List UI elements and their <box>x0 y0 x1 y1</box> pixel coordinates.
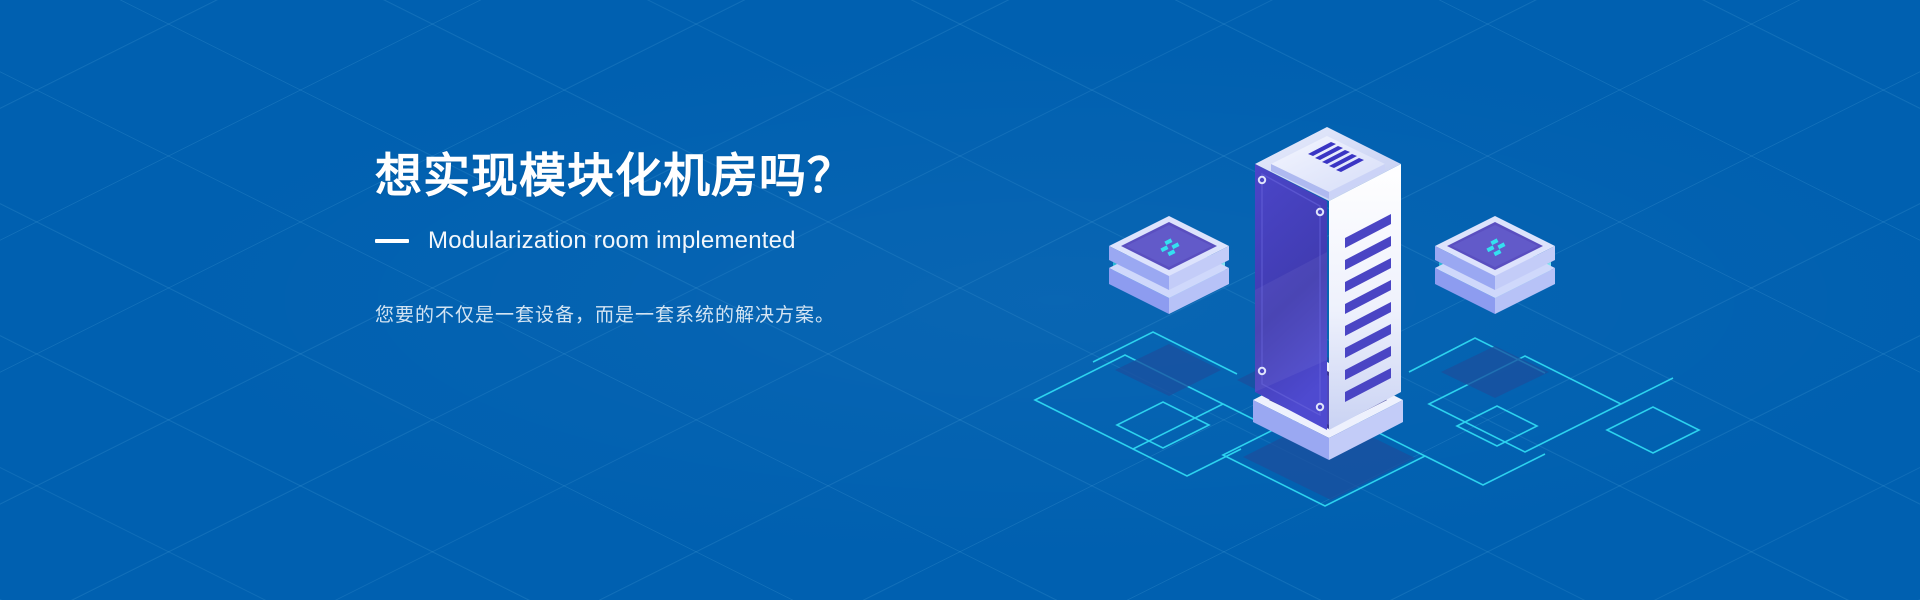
hero-banner: 想实现模块化机房吗？ Modularization room implement… <box>0 0 1920 600</box>
subtitle-english: Modularization room implemented <box>428 227 796 255</box>
chip-block-right <box>1435 216 1555 314</box>
chip-block-left <box>1109 216 1229 314</box>
server-illustration <box>1005 70 1645 490</box>
dash-divider-icon <box>375 239 409 243</box>
